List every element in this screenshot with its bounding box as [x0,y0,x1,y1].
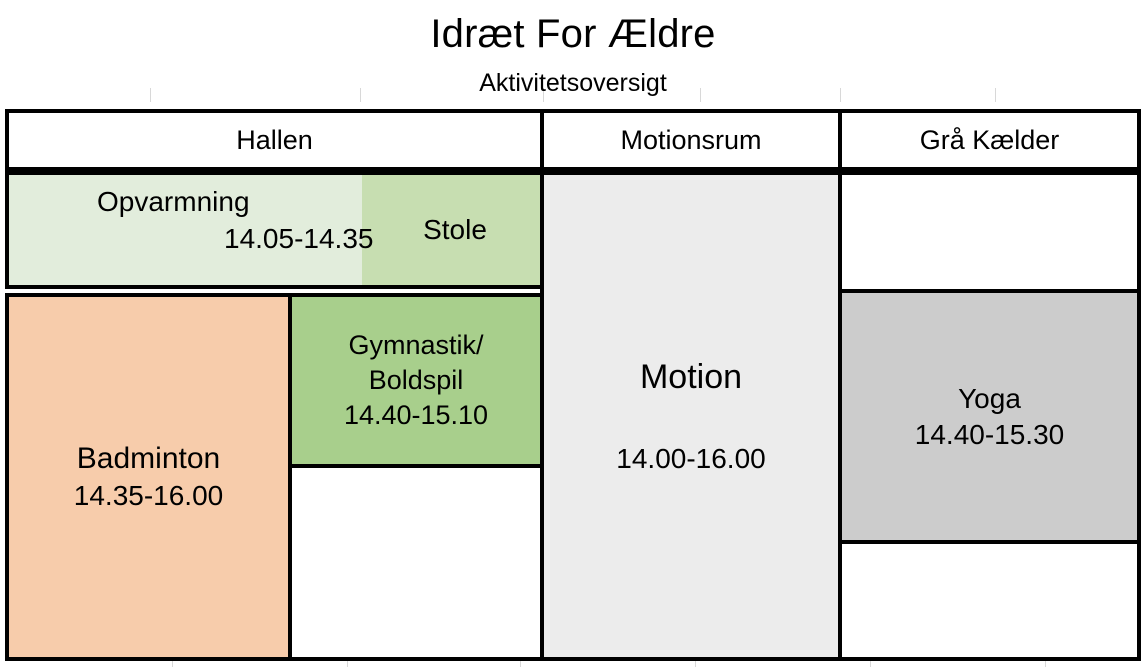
activity-block-opvarmning[interactable] [5,171,364,289]
activity-schedule-page: Idræt For Ældre Aktivitetsoversigt Halle… [0,0,1146,667]
empty-slot-graa-kaelder-top[interactable] [838,171,1141,293]
activity-block-stole[interactable]: Stole [362,171,544,289]
page-title: Idræt For Ældre [0,10,1146,58]
activity-time: 14.00-16.00 [616,441,765,477]
page-subtitle: Aktivitetsoversigt [0,68,1146,98]
column-header-label: Motionsrum [620,124,761,156]
activity-block-gymnastik-boldspil[interactable]: Gymnastik/ Boldspil 14.40-15.10 [288,293,544,468]
activity-block-motion[interactable]: Motion 14.00-16.00 [540,171,842,661]
schedule-grid: Hallen Motionsrum Grå Kælder Stole Opvar… [5,109,1141,661]
tick-mark [870,661,871,667]
activity-name: Badminton [77,440,220,478]
tick-mark [347,661,348,667]
tick-mark [172,661,173,667]
activity-name-line2: Boldspil [369,363,464,398]
activity-block-yoga[interactable]: Yoga 14.40-15.30 [838,289,1141,544]
column-header-label: Grå Kælder [920,124,1060,156]
activity-name: Gymnastik/ [348,328,483,363]
column-header-motionsrum: Motionsrum [540,109,842,171]
activity-time: 14.40-15.30 [915,417,1064,453]
activity-name: Yoga [958,381,1021,417]
activity-name: Stole [423,213,487,247]
activity-time: 14.40-15.10 [344,398,488,433]
tick-mark [695,661,696,667]
tick-mark [520,661,521,667]
empty-slot-graa-kaelder-bottom[interactable] [838,540,1141,661]
column-header-label: Hallen [236,124,313,156]
activity-time: 14.35-16.00 [74,478,223,514]
activity-name: Motion [640,355,742,399]
column-header-hallen: Hallen [5,109,544,171]
tick-mark [1045,661,1046,667]
activity-block-badminton[interactable]: Badminton 14.35-16.00 [5,293,292,661]
column-header-graa-kaelder: Grå Kælder [838,109,1141,171]
empty-slot-hallen[interactable] [288,464,544,661]
